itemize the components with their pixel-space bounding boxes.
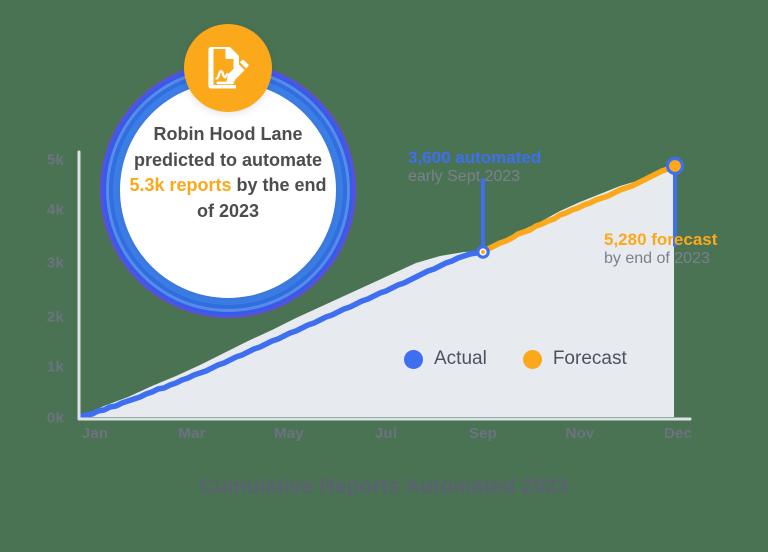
y-tick-5k: 5k <box>22 152 64 169</box>
annotation-forecast-sub: by end of 2023 <box>604 250 717 269</box>
legend-label-actual: Actual <box>434 348 487 370</box>
callout-line-4b: by the end <box>232 175 327 195</box>
callout-line-1: Robin Hood Lane <box>154 124 303 144</box>
chart-title: Cumulative Reports Automated 2023 <box>0 475 768 499</box>
annotation-sept: 3,600 automated early Sept 2023 <box>408 148 541 187</box>
legend-label-forecast: Forecast <box>553 348 627 370</box>
callout-line-5: of 2023 <box>197 201 259 221</box>
annotation-sept-value: 3,600 automated <box>408 148 541 168</box>
x-tick-jul: Jul <box>375 425 397 442</box>
y-tick-0k: 0k <box>22 410 64 427</box>
y-axis-ticks: 0k 1k 2k 3k 4k 5k <box>22 150 64 418</box>
document-signature-icon <box>184 24 272 112</box>
callout-highlight-reports: reports <box>170 175 232 195</box>
x-tick-nov: Nov <box>566 425 595 442</box>
x-tick-mar: Mar <box>178 425 205 442</box>
annotation-sept-sub: early Sept 2023 <box>408 168 541 187</box>
legend-dot-forecast-icon <box>523 350 542 369</box>
legend-item-forecast[interactable]: Forecast <box>523 348 627 370</box>
y-tick-3k: 3k <box>22 255 64 272</box>
x-tick-may: May <box>274 425 304 442</box>
callout-line-3a: automate <box>242 150 322 170</box>
forecast-end-marker <box>668 159 683 174</box>
x-tick-sep: Sep <box>469 425 497 442</box>
chart-container: 0k 1k 2k 3k 4k 5k Jan Mar May Jul Sep No… <box>0 0 768 552</box>
x-axis-ticks: Jan Mar May Jul Sep Nov Dec <box>0 425 768 451</box>
sept-marker-core <box>481 250 485 254</box>
y-tick-2k: 2k <box>22 309 64 326</box>
x-tick-dec: Dec <box>664 425 692 442</box>
legend-dot-actual-icon <box>404 350 423 369</box>
x-tick-jan: Jan <box>82 425 108 442</box>
annotation-forecast-value: 5,280 forecast <box>604 230 717 250</box>
annotation-forecast: 5,280 forecast by end of 2023 <box>604 230 717 269</box>
legend-item-actual[interactable]: Actual <box>404 348 487 370</box>
callout-highlight-amount: 5.3k <box>129 175 164 195</box>
y-tick-4k: 4k <box>22 202 64 219</box>
callout-text: Robin Hood Lane predicted to automate 5.… <box>126 122 330 224</box>
callout-line-2: predicted to <box>134 150 237 170</box>
y-tick-1k: 1k <box>22 359 64 376</box>
prediction-callout: Robin Hood Lane predicted to automate 5.… <box>100 62 356 318</box>
chart-legend: Actual Forecast <box>404 348 627 370</box>
